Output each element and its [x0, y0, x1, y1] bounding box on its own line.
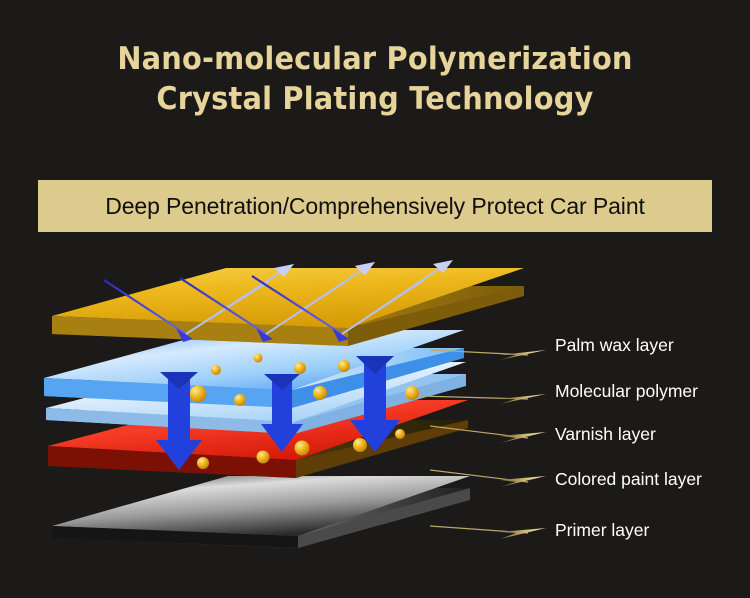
layer-label-varnish: Varnish layer: [555, 424, 656, 445]
layer-label-primer: Primer layer: [555, 520, 649, 541]
title-line-1: Nano-molecular Polymerization: [26, 40, 724, 80]
title-line-2: Crystal Plating Technology: [26, 80, 724, 120]
poster-root: Nano-molecular Polymerization Crystal Pl…: [0, 0, 750, 598]
page-title: Nano-molecular Polymerization Crystal Pl…: [0, 40, 750, 119]
leader-arrow-primer: [430, 526, 546, 539]
layer-label-palm-wax: Palm wax layer: [555, 335, 674, 356]
subtitle-text: Deep Penetration/Comprehensively Protect…: [105, 193, 645, 220]
layer-diagram: Palm wax layer Molecular polymer Varnish…: [0, 248, 750, 598]
layer-shape-palm-wax: [52, 268, 524, 346]
layer-shape-primer: [52, 476, 470, 548]
leader-arrow-varnish: [430, 426, 546, 443]
layer-label-molecular-polymer: Molecular polymer: [555, 381, 698, 402]
subtitle-banner: Deep Penetration/Comprehensively Protect…: [38, 180, 712, 232]
layer-label-colored-paint: Colored paint layer: [555, 469, 702, 490]
